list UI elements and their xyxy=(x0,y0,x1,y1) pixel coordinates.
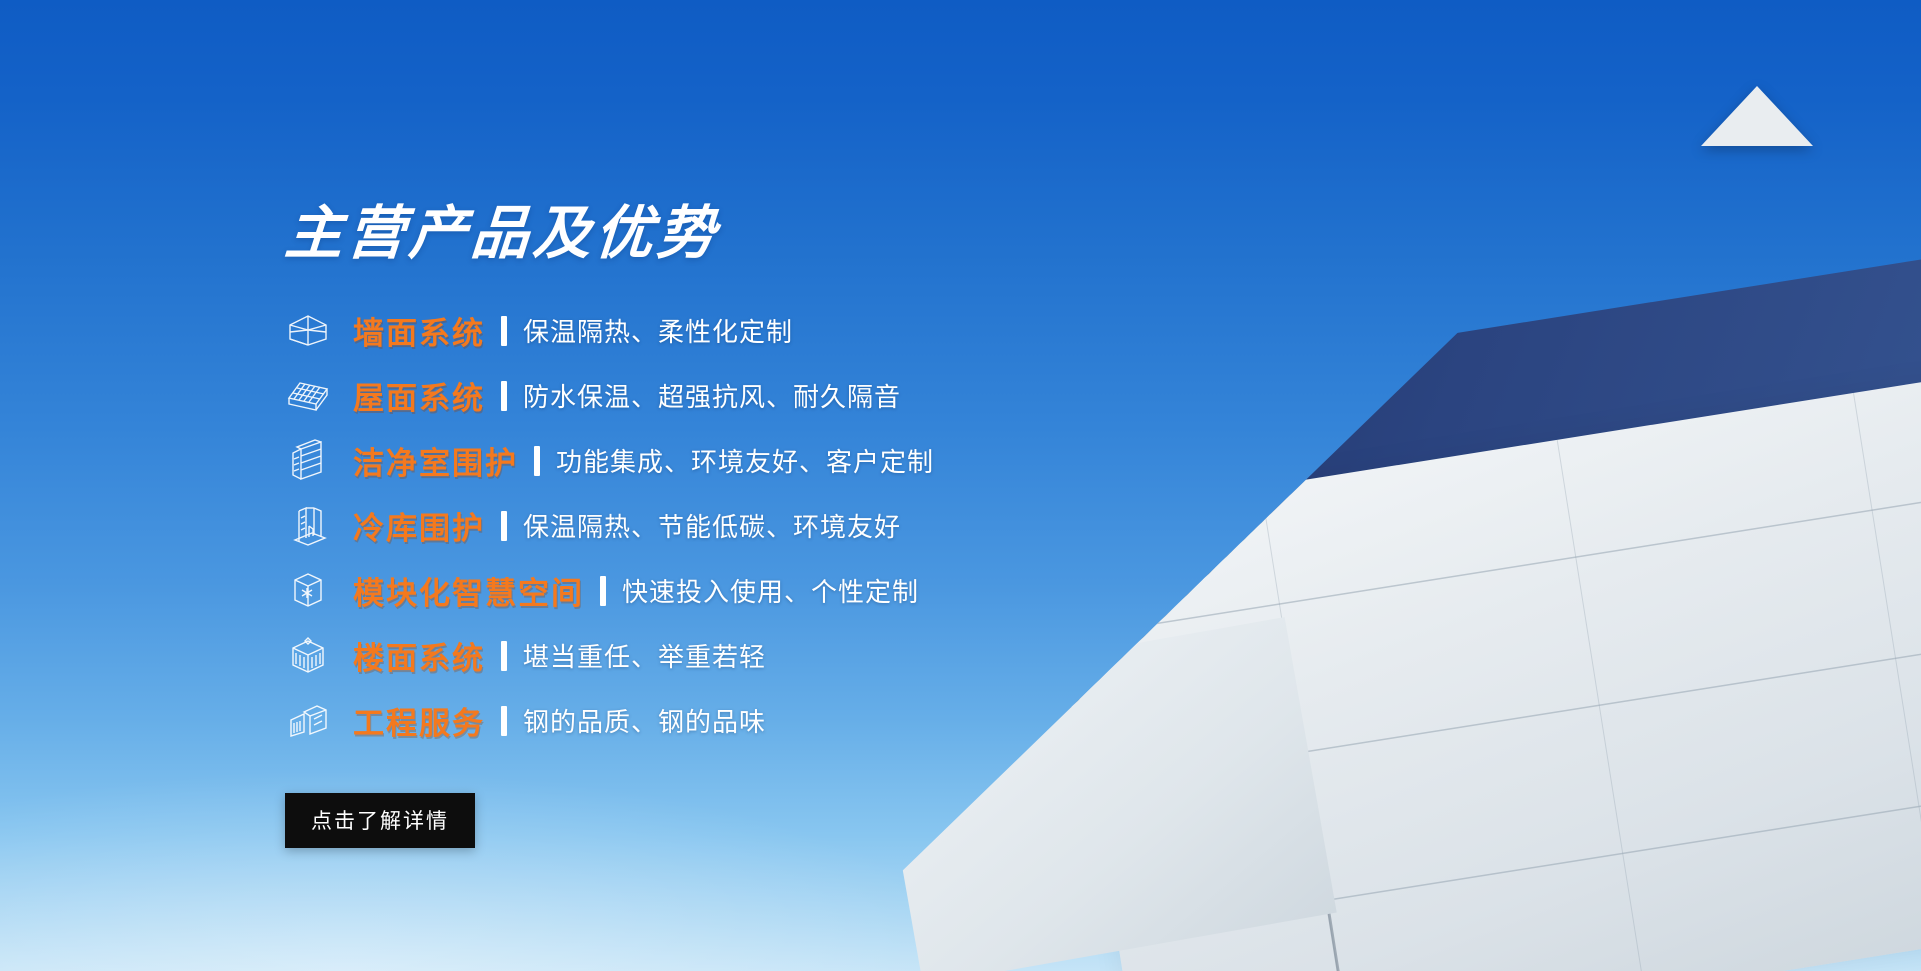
banner-content: 主营产品及优势 墙面系统 保温隔热、柔性化定制 xyxy=(0,0,1000,971)
list-item[interactable]: 屋面系统 防水保温、超强抗风、耐久隔音 xyxy=(285,363,1045,428)
product-desc: 功能集成、环境友好、客户定制 xyxy=(556,442,934,479)
list-item[interactable]: 工程服务 钢的品质、钢的品味 xyxy=(285,688,1045,753)
cold-storage-icon xyxy=(285,504,331,548)
product-title: 工程服务 xyxy=(353,698,485,743)
product-title: 模块化智慧空间 xyxy=(353,568,584,613)
product-desc: 保温隔热、柔性化定制 xyxy=(523,312,793,349)
list-item[interactable]: 模块化智慧空间 快速投入使用、个性定制 xyxy=(285,558,1045,623)
factory-complex-icon xyxy=(285,699,331,743)
list-item[interactable]: 楼面系统 堪当重任、举重若轻 xyxy=(285,623,1045,688)
separator-bar xyxy=(534,446,540,476)
floor-deck-icon xyxy=(285,634,331,678)
product-desc: 防水保温、超强抗风、耐久隔音 xyxy=(523,377,901,414)
learn-more-button[interactable]: 点击了解详情 xyxy=(285,793,475,848)
separator-bar xyxy=(501,316,507,346)
product-list: 墙面系统 保温隔热、柔性化定制 屋面系统 防水保温、超强抗风、 xyxy=(285,298,1045,753)
product-title: 屋面系统 xyxy=(353,373,485,418)
wall-frame-icon xyxy=(285,309,331,353)
separator-bar xyxy=(501,511,507,541)
product-title: 洁净室围护 xyxy=(353,438,518,483)
list-item[interactable]: 冷库围护 保温隔热、节能低碳、环境友好 xyxy=(285,493,1045,558)
product-title: 冷库围护 xyxy=(353,503,485,548)
product-desc: 堪当重任、举重若轻 xyxy=(523,637,766,674)
page-title: 主营产品及优势 xyxy=(283,205,721,263)
list-item[interactable]: 墙面系统 保温隔热、柔性化定制 xyxy=(285,298,1045,363)
list-item[interactable]: 洁净室围护 功能集成、环境友好、客户定制 xyxy=(285,428,1045,493)
product-desc: 钢的品质、钢的品味 xyxy=(523,702,766,739)
modular-cube-icon xyxy=(285,569,331,613)
separator-bar xyxy=(501,381,507,411)
product-desc: 快速投入使用、个性定制 xyxy=(622,572,919,609)
separator-bar xyxy=(501,706,507,736)
separator-bar xyxy=(600,576,606,606)
roof-panel-icon xyxy=(285,374,331,418)
product-desc: 保温隔热、节能低碳、环境友好 xyxy=(523,507,901,544)
separator-bar xyxy=(501,641,507,671)
cleanroom-building-icon xyxy=(285,439,331,483)
hero-banner: 主营产品及优势 墙面系统 保温隔热、柔性化定制 xyxy=(0,0,1921,971)
building-apex xyxy=(1701,86,1813,146)
product-title: 墙面系统 xyxy=(353,308,485,353)
product-title: 楼面系统 xyxy=(353,633,485,678)
